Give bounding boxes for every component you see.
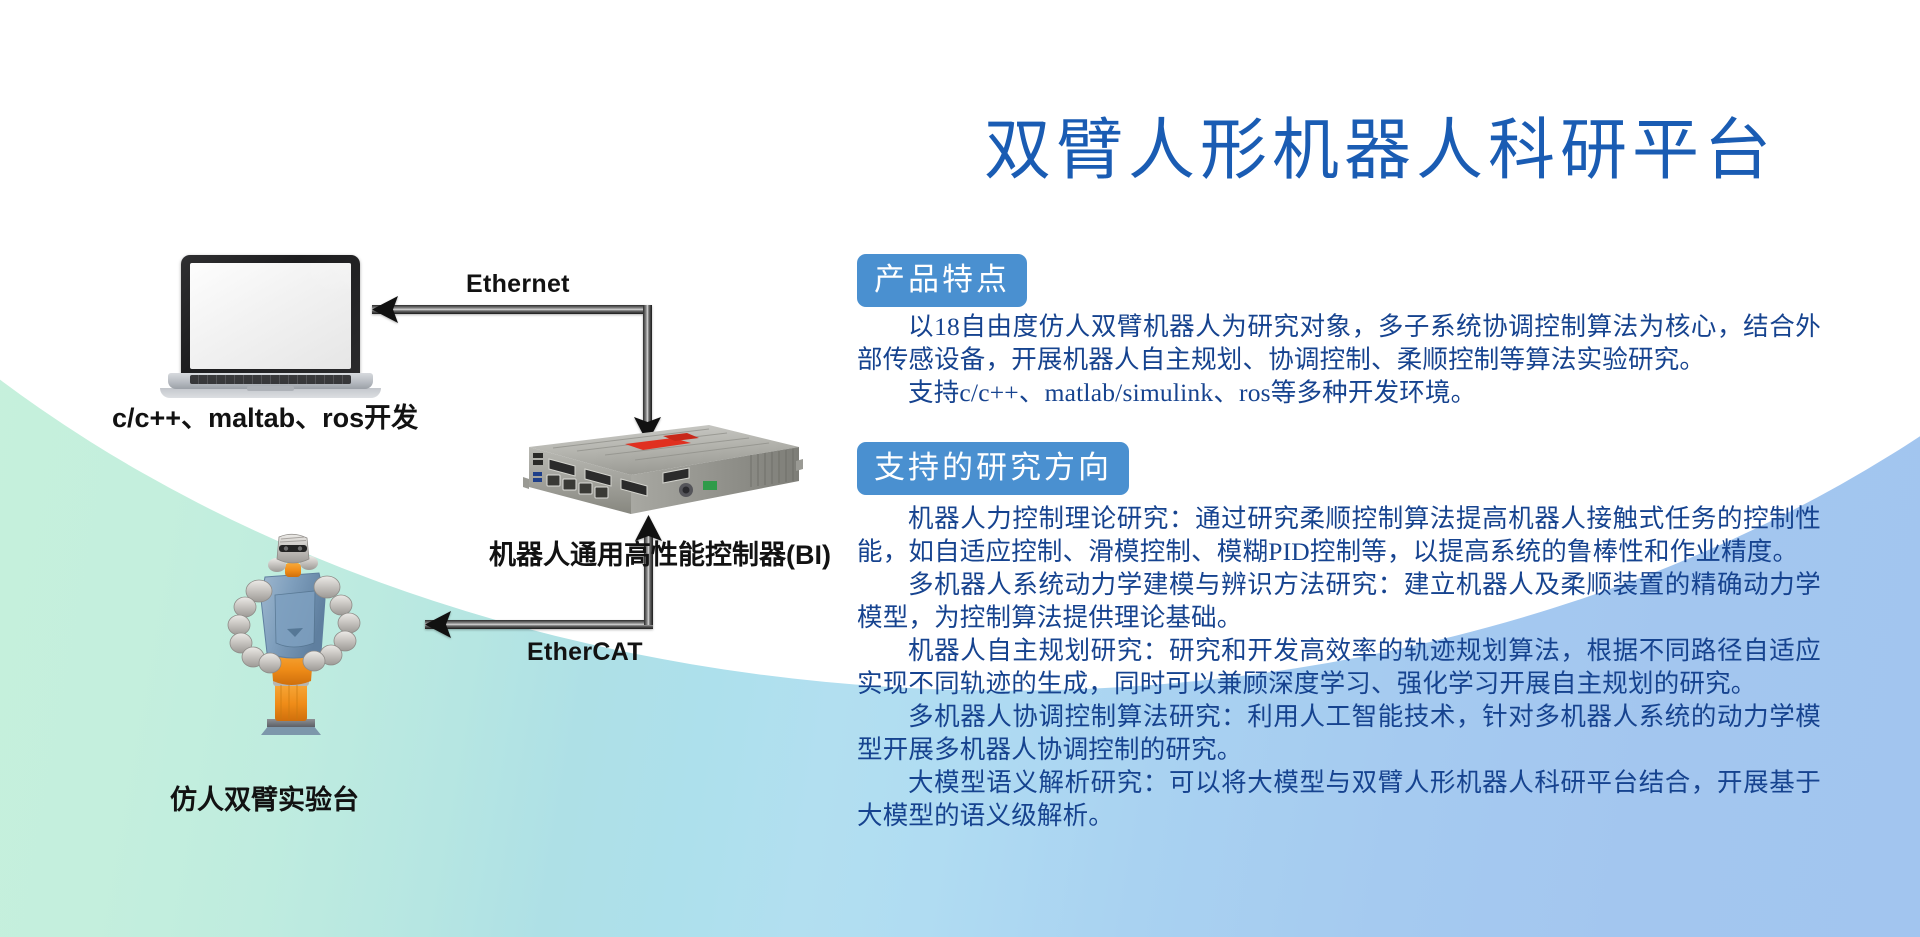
section-badge-product-features: 产品特点 — [857, 254, 1027, 307]
content-panel: 双臂人形机器人科研平台 产品特点 以18自由度仿人双臂机器人为研究对象，多子系统… — [840, 0, 1920, 937]
controller-label: 机器人通用高性能控制器(BI) — [489, 533, 831, 572]
paragraph: 多机器人系统动力学建模与辨识方法研究：建立机器人及柔顺装置的精确动力学模型，为控… — [857, 568, 1821, 634]
paragraph: 大模型语义解析研究：可以将大模型与双臂人形机器人科研平台结合，开展基于大模型的语… — [857, 766, 1821, 832]
laptop-icon — [168, 255, 373, 400]
link-label-ethernet: Ethernet — [466, 270, 570, 299]
paragraph: 机器人力控制理论研究：通过研究柔顺控制算法提高机器人接触式任务的控制性能，如自适… — [857, 502, 1821, 568]
section-body-product-features: 以18自由度仿人双臂机器人为研究对象，多子系统协调控制算法为核心，结合外部传感设… — [857, 310, 1821, 409]
paragraph: 支持c/c++、matlab/simulink、ros等多种开发环境。 — [857, 376, 1821, 409]
paragraph: 机器人自主规划研究：研究和开发高效率的轨迹规划算法，根据不同路径自适应实现不同轨… — [857, 634, 1821, 700]
humanoid-robot-icon — [215, 533, 375, 743]
industrial-controller-icon — [513, 417, 803, 522]
section-badge-research-directions: 支持的研究方向 — [857, 442, 1129, 495]
poster-canvas: Ethernet EtherCAT c/c++、maltab、ros开发 机器人… — [0, 0, 1920, 937]
system-diagram: Ethernet EtherCAT c/c++、maltab、ros开发 机器人… — [0, 0, 840, 937]
page-title: 双臂人形机器人科研平台 — [850, 118, 1910, 185]
paragraph: 多机器人协调控制算法研究：利用人工智能技术，针对多机器人系统的动力学模型开展多机… — [857, 700, 1821, 766]
paragraph: 以18自由度仿人双臂机器人为研究对象，多子系统协调控制算法为核心，结合外部传感设… — [857, 310, 1821, 376]
link-label-ethercat: EtherCAT — [527, 638, 643, 667]
laptop-label: c/c++、maltab、ros开发 — [112, 396, 418, 435]
section-body-research-directions: 机器人力控制理论研究：通过研究柔顺控制算法提高机器人接触式任务的控制性能，如自适… — [857, 502, 1821, 832]
robot-label: 仿人双臂实验台 — [170, 778, 359, 817]
